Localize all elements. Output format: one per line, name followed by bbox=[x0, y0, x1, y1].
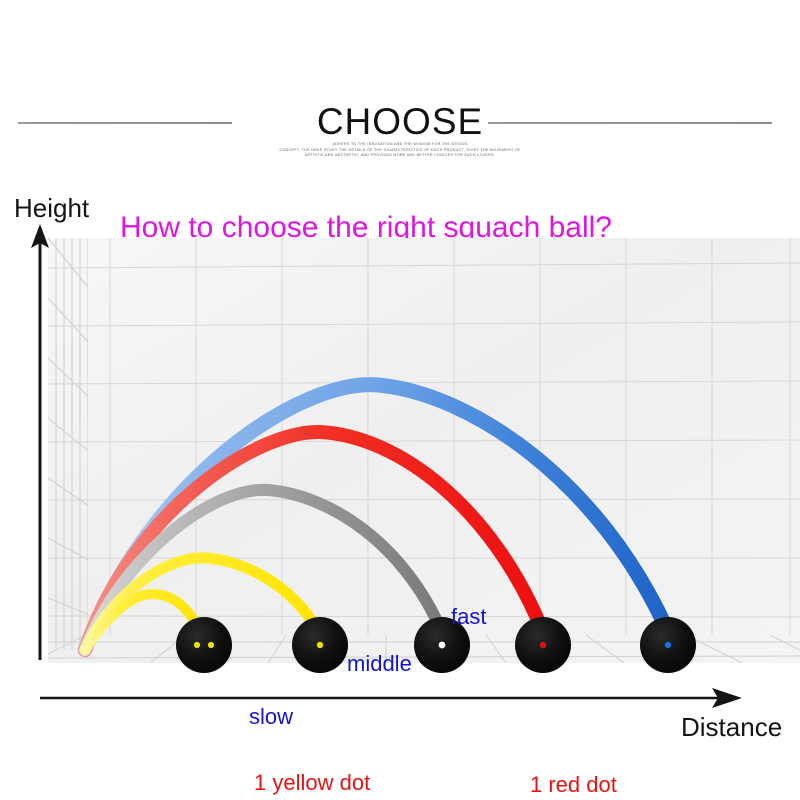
squash-ball-infographic: CHOOSE ADHERE TO THE INNOVATION AND THE … bbox=[0, 0, 800, 800]
ball-dot bbox=[317, 642, 323, 648]
speed-label-middle: middle bbox=[347, 651, 412, 677]
speed-label-slow: slow bbox=[249, 704, 293, 730]
ball-dot bbox=[665, 642, 671, 648]
ball-dot bbox=[194, 642, 200, 648]
banner-subtitle: ADHERE TO THE INNOVATION AND THE WISDOM … bbox=[180, 142, 620, 159]
dot-label-1-red-dot: 1 red dot bbox=[530, 772, 617, 798]
dot-label-1-yellow-dot: 1 yellow dot bbox=[254, 770, 370, 796]
speed-label-fast: fast bbox=[451, 604, 486, 630]
banner-title: CHOOSE bbox=[0, 96, 800, 148]
chart-plot-area: fast middle slow super slow 2 yellow dot… bbox=[0, 180, 800, 740]
ball-dot bbox=[439, 642, 446, 649]
ball-dot bbox=[540, 642, 546, 648]
ball-dot bbox=[208, 642, 214, 648]
